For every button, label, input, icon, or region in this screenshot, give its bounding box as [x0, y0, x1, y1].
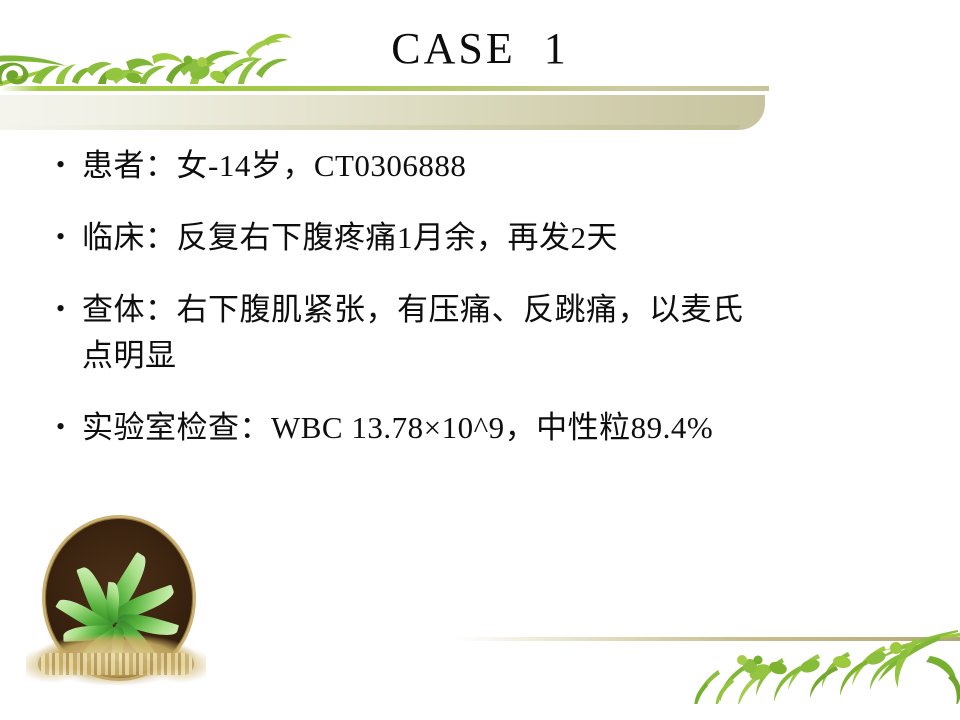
header-accent-rule-tail — [755, 86, 769, 91]
bullet-list: • 患者：女-14岁，CT0306888 • 临床：反复右下腹疼痛1月余，再发2… — [48, 143, 928, 451]
plant-emblem — [26, 515, 206, 700]
bullet-text-examination-line1: 查体：右下腹肌紧张，有压痛、反跳痛，以麦氏 — [82, 292, 744, 327]
list-item: • 患者：女-14岁，CT0306888 — [48, 143, 928, 189]
bullet-marker-icon: • — [48, 405, 82, 449]
list-item: • 临床：反复右下腹疼痛1月余，再发2天 — [48, 215, 928, 261]
emblem-ornament-base — [26, 633, 206, 695]
bullet-text-examination: 查体：右下腹肌紧张，有压痛、反跳痛，以麦氏 点明显 — [82, 287, 928, 379]
header-band-shadow — [0, 125, 740, 130]
bullet-text-lab: 实验室检查：WBC 13.78×10^9，中性粒89.4% — [82, 405, 928, 451]
bullet-marker-icon: • — [48, 287, 82, 331]
page-title: CASE 1 — [0, 24, 960, 75]
list-item: • 查体：右下腹肌紧张，有压痛、反跳痛，以麦氏 点明显 — [48, 287, 928, 379]
header-khaki-band — [0, 95, 765, 130]
bullet-marker-icon: • — [48, 215, 82, 259]
slide-canvas: CASE 1 • 患者：女-14岁，CT0306888 • 临床：反复右下腹疼痛… — [0, 0, 960, 720]
slide-header: CASE 1 — [0, 0, 960, 130]
footer-spacer — [0, 704, 960, 720]
list-item: • 实验室检查：WBC 13.78×10^9，中性粒89.4% — [48, 405, 928, 451]
bullet-text-patient: 患者：女-14岁，CT0306888 — [82, 143, 928, 189]
bullet-text-examination-line2: 点明显 — [82, 333, 928, 379]
bullet-marker-icon: • — [48, 143, 82, 187]
top-left-vine-icon — [0, 26, 294, 92]
footer-divider-line — [455, 637, 960, 641]
bullet-text-clinical: 临床：反复右下腹疼痛1月余，再发2天 — [82, 215, 928, 261]
header-accent-rule — [0, 86, 765, 91]
